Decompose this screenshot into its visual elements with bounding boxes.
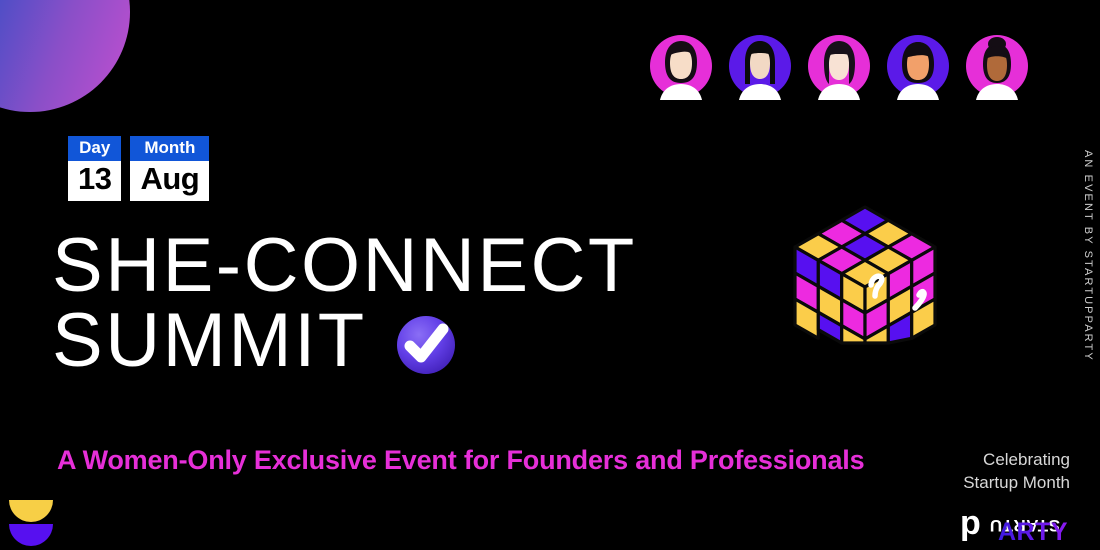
rubiks-cube-icon — [793, 203, 937, 347]
avatar-2 — [726, 32, 794, 100]
month-badge: Month Aug — [130, 136, 209, 201]
page-title-line-2: SUMMIT — [52, 303, 367, 378]
month-badge-label: Month — [130, 136, 209, 161]
avatar-3 — [805, 32, 873, 100]
verified-check-icon — [393, 311, 459, 377]
avatar-5 — [963, 32, 1031, 100]
half-circle-purple-decor — [9, 524, 53, 546]
startupparty-logo: p STARTU ARTY — [960, 500, 1078, 544]
day-badge: Day 13 — [68, 136, 121, 201]
page-title-line-1: SHE-CONNECT — [52, 228, 637, 303]
celebrating-line-2: Startup Month — [963, 472, 1070, 495]
page-subtitle: A Women-Only Exclusive Event for Founder… — [57, 445, 864, 476]
gradient-circle-decor — [0, 0, 130, 112]
celebrating-note: Celebrating Startup Month — [963, 449, 1070, 495]
half-circle-yellow-decor — [9, 500, 53, 522]
logo-arty: ARTY — [998, 518, 1068, 544]
day-badge-value: 13 — [68, 161, 121, 201]
avatar-4 — [884, 32, 952, 100]
month-badge-value: Aug — [130, 161, 209, 201]
avatar-1 — [647, 32, 715, 100]
page-title-line-2-row: SUMMIT — [52, 303, 637, 378]
date-badge-group: Day 13 Month Aug — [68, 136, 209, 201]
page-title: SHE-CONNECT SUMMIT — [52, 228, 637, 378]
day-badge-label: Day — [68, 136, 121, 161]
event-credit-vertical: AN EVENT BY STARTUPPARTY — [1082, 150, 1094, 362]
celebrating-line-1: Celebrating — [963, 449, 1070, 472]
event-poster: Day 13 Month Aug SHE-CONNECT SUMMIT — [0, 0, 1100, 550]
logo-p-glyph: p — [960, 504, 981, 542]
avatar-group — [647, 32, 1031, 100]
